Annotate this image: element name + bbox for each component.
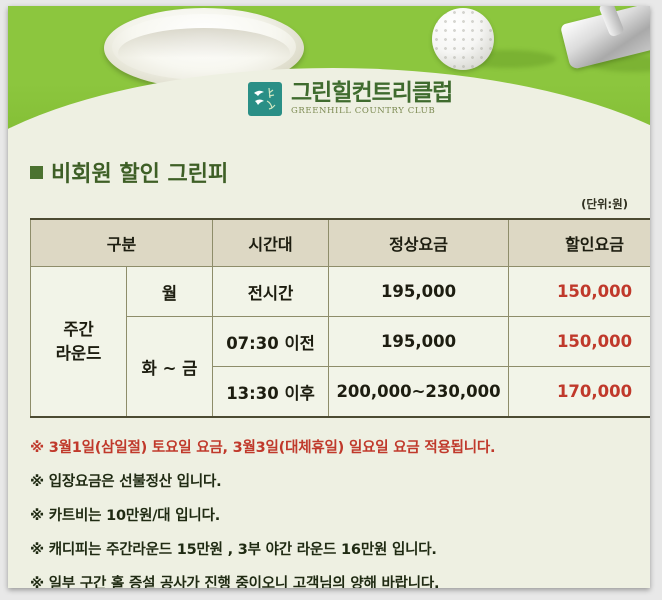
brand-logo[interactable]: 그린힐컨트리클럽 GREENHILL COUNTRY CLUB xyxy=(248,82,452,116)
logo-english-name: GREENHILL COUNTRY CLUB xyxy=(291,107,452,116)
note-item: ※ 카트비는 10만원/대 입니다. xyxy=(30,504,628,525)
cell-normal-rate: 200,000~230,000 xyxy=(329,367,509,418)
logo-text: 그린힐컨트리클럽 GREENHILL COUNTRY CLUB xyxy=(291,82,452,116)
unit-label: (단위:원) xyxy=(30,196,628,212)
hero-banner: 그린힐컨트리클럽 GREENHILL COUNTRY CLUB xyxy=(8,6,650,134)
cell-normal-rate: 195,000 xyxy=(329,317,509,367)
cell-time-before-0730: 07:30 이전 xyxy=(213,317,329,367)
note-item: ※ 입장요금은 선불정산 입니다. xyxy=(30,470,628,491)
cell-day-monday: 월 xyxy=(127,267,213,317)
cell-discount-rate: 150,000 xyxy=(509,267,650,317)
main-content: 비회원 할인 그린피 (단위:원) 구분 시간대 정상요금 할인요금 주간 xyxy=(8,156,650,588)
golf-ball-icon xyxy=(432,8,494,70)
note-item: ※ 일부 구간 홀 증설 공사가 진행 중이오니 고객님의 양해 바랍니다. xyxy=(30,572,628,588)
bullet-square-icon xyxy=(30,166,43,179)
cell-time-allday: 전시간 xyxy=(213,267,329,317)
header-category: 구분 xyxy=(31,219,213,267)
logo-emblem-icon xyxy=(248,82,282,116)
cell-discount-rate: 170,000 xyxy=(509,367,650,418)
notes-list: ※ 3월1일(삼일절) 토요일 요금, 3월3일(대체휴일) 일요일 요금 적용… xyxy=(30,436,628,588)
table-header-row: 구분 시간대 정상요금 할인요금 xyxy=(31,219,651,267)
cell-normal-rate: 195,000 xyxy=(329,267,509,317)
greenfee-table: 구분 시간대 정상요금 할인요금 주간 라운드 월 전시간 195,000 15… xyxy=(30,218,650,418)
page-title: 비회원 할인 그린피 xyxy=(30,156,628,188)
logo-korean-name: 그린힐컨트리클럽 xyxy=(291,82,452,105)
category-line-2: 라운드 xyxy=(56,344,102,363)
header-time: 시간대 xyxy=(213,219,329,267)
note-item: ※ 3월1일(삼일절) 토요일 요금, 3월3일(대체휴일) 일요일 요금 적용… xyxy=(30,436,628,457)
header-normal-rate: 정상요금 xyxy=(329,219,509,267)
page-title-text: 비회원 할인 그린피 xyxy=(51,156,228,188)
cell-category-daytime: 주간 라운드 xyxy=(31,267,127,418)
table-row: 주간 라운드 월 전시간 195,000 150,000 xyxy=(31,267,651,317)
cell-discount-rate: 150,000 xyxy=(509,317,650,367)
page-card: 그린힐컨트리클럽 GREENHILL COUNTRY CLUB 비회원 할인 그… xyxy=(8,6,650,588)
header-discount-rate: 할인요금 xyxy=(509,219,650,267)
note-item: ※ 캐디피는 주간라운드 15만원 , 3부 야간 라운드 16만원 입니다. xyxy=(30,538,628,559)
cell-time-after-1330: 13:30 이후 xyxy=(213,367,329,418)
cell-day-tue-fri: 화 ~ 금 xyxy=(127,317,213,418)
category-line-1: 주간 xyxy=(63,320,93,339)
